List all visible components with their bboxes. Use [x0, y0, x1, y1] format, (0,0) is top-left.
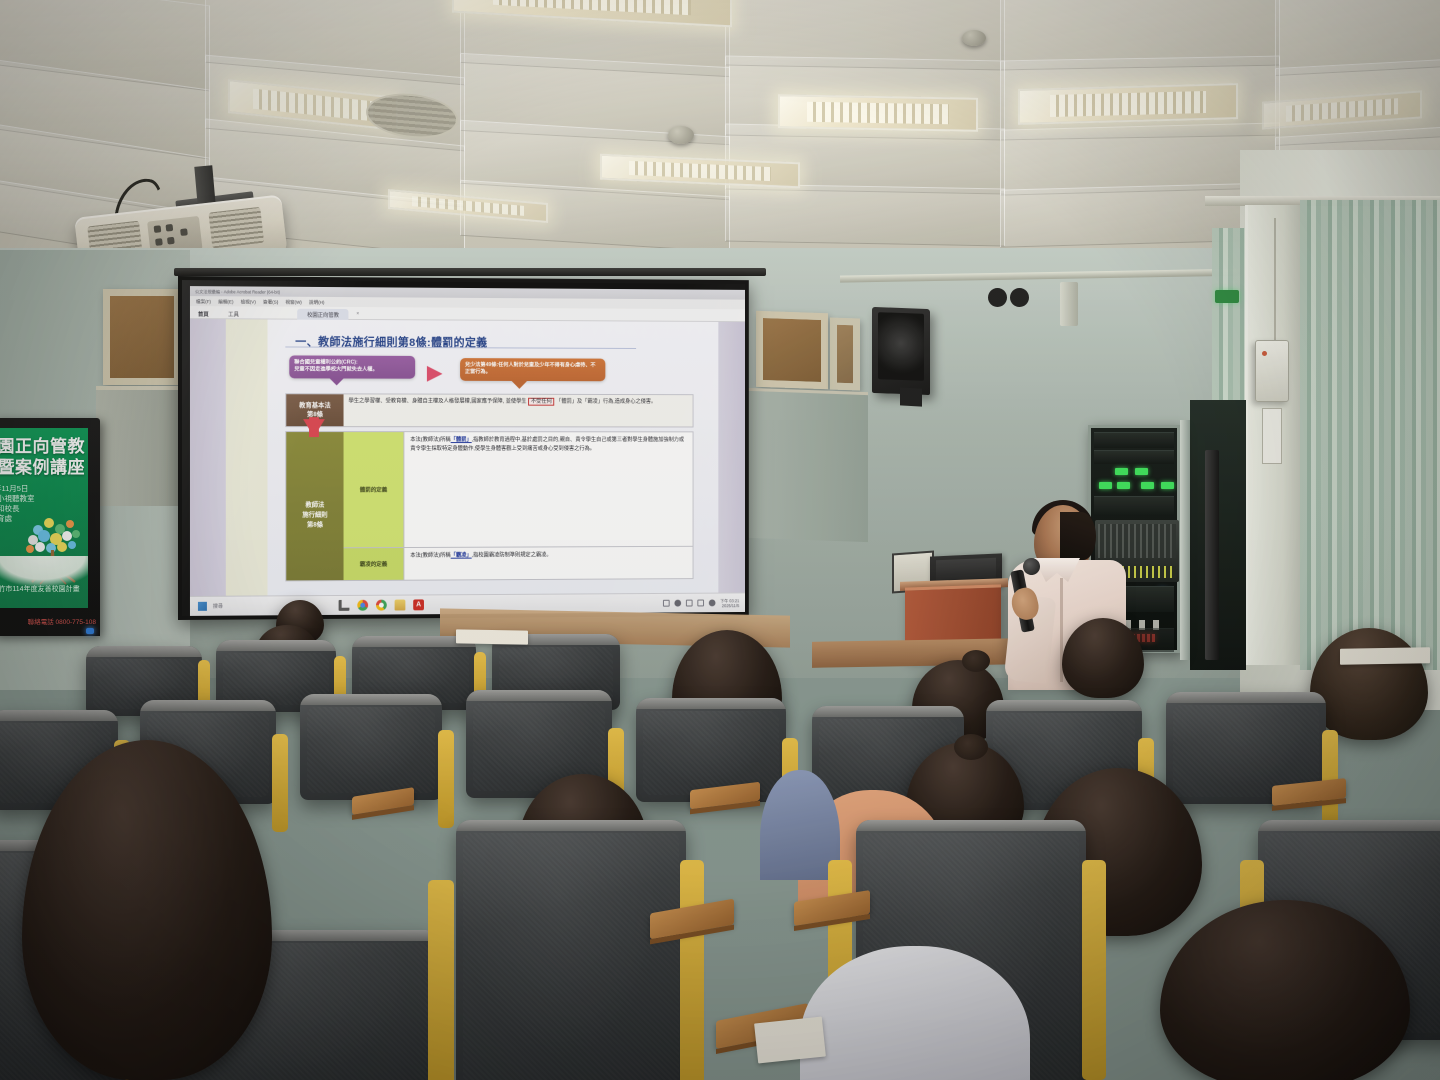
signage-venue: 山國小視聽教室 [0, 494, 88, 504]
pdf-right-rail[interactable] [718, 322, 745, 593]
text-part1: 學生之學習權、受教育權、身體自主權及人格發展權,國家應予保障, [348, 398, 504, 404]
wall-mounted-controller[interactable] [1255, 340, 1289, 402]
pdf-left-rail[interactable] [190, 319, 226, 596]
status-led [1135, 468, 1148, 475]
row-body-corporal-punishment: 本法(教師法)所稱「體罰」,指教師於教育過程中,基於處罰之目的,親自、責令學生自… [404, 432, 692, 547]
seat-frame [1082, 860, 1106, 1080]
exit-sign [1215, 290, 1239, 303]
basic-education-act-text: 學生之學習權、受教育權、身體自主權及人格發展權,國家應予保障, 並使學生 不受任… [344, 394, 693, 426]
row-prefix: 本法(教師法)所稱 [410, 437, 450, 443]
table-row: 體罰的定義 本法(教師法)所稱「體罰」,指教師於教育過程中,基於處罰之目的,親自… [344, 432, 693, 548]
acrobat-icon[interactable]: A [413, 599, 424, 610]
bulletin-board [103, 289, 181, 385]
lecture-seat[interactable] [456, 820, 686, 1080]
menu-sign[interactable]: 簽署(S) [263, 300, 278, 305]
ceiling-light [778, 94, 978, 131]
status-led [1161, 482, 1174, 489]
light-switch-plate[interactable] [1262, 408, 1282, 464]
desk-paper[interactable] [456, 629, 528, 644]
rack-door-edge[interactable] [1180, 420, 1190, 660]
windows-icon[interactable] [198, 602, 207, 611]
chrome-beta-icon[interactable] [376, 600, 387, 611]
seat-frame [680, 860, 704, 1080]
ime-icon[interactable] [697, 600, 704, 607]
seat-frame [272, 734, 288, 832]
lecture-seat[interactable] [636, 698, 786, 802]
wall-panel [96, 386, 182, 506]
window-curtain[interactable] [1300, 200, 1440, 670]
teacher-act-label: 教師法 施行細則 第8條 [286, 432, 343, 580]
pa-speaker [872, 307, 930, 395]
menu-help[interactable]: 說明(H) [309, 300, 324, 305]
seat-frame [438, 730, 454, 828]
pdf-page: 一、教師法施行細則第8條:體罰的定義 聯合國兒童權利公約(CRC): 兒童不因走… [268, 319, 719, 595]
signage-screen: 校園正向管教 規暨案例講座 114年11月5日 山國小視聽教室 林東和校長 市教… [0, 428, 88, 608]
status-led [1141, 482, 1154, 489]
signage-title-line1: 校園正向管教 [0, 436, 88, 457]
taskbar-search-input[interactable]: 搜尋 [213, 603, 223, 610]
power-led-icon [86, 628, 94, 634]
ceiling-smoke-detector [962, 30, 986, 46]
taskbar-app-icons[interactable]: A [339, 599, 424, 610]
slide-title: 一、教師法施行細則第8條:體罰的定義 [295, 334, 709, 352]
table-row: 霸凌的定義 本法(教師法)所稱「霸凌」,指校園霸凌防制準則規定之霸凌。 [344, 547, 693, 580]
tab-home[interactable]: 首頁 [198, 312, 209, 318]
system-tray[interactable]: 下午 03:21 2025/11/5 [663, 598, 739, 608]
close-icon[interactable]: × [356, 311, 359, 317]
bulletin-board [756, 311, 828, 390]
menu-window[interactable]: 視窗(W) [285, 300, 301, 305]
wall-speaker-pair [988, 288, 1032, 308]
projector-mount [194, 165, 215, 206]
pa-speaker-bracket [900, 387, 922, 406]
tab-tools[interactable]: 工具 [228, 312, 239, 318]
row-body-bullying: 本法(教師法)所稱「霸凌」,指校園霸凌防制準則規定之霸凌。 [404, 547, 692, 580]
projection-screen-housing [174, 268, 766, 276]
signage-bezel: 聯絡電話 0800-775-108 [0, 610, 100, 636]
taskbar-clock-time[interactable]: 下午 03:21 [720, 598, 739, 603]
wall-wire [1274, 218, 1276, 344]
child-welfare-act-callout: 兒少法第49條:任何人對於兒童及少年不得有身心虐待、不正當行為。 [460, 358, 605, 381]
label-line1: 教師法 [305, 500, 324, 510]
label-line2: 施行細則 [302, 510, 327, 520]
label-line1: 教育基本法 [299, 401, 331, 410]
folder-icon[interactable] [395, 600, 406, 611]
status-led [1115, 468, 1128, 475]
row-keyword: 「體罰」 [451, 437, 472, 443]
lecture-seat[interactable] [300, 694, 442, 800]
highlighted-phrase: 不受任何 [528, 398, 555, 406]
desk-paper[interactable] [1340, 647, 1430, 665]
signage-phone: 聯絡電話 0800-775-108 [28, 616, 96, 626]
row-text: ,指校園霸凌防制準則規定之霸凌。 [472, 552, 552, 558]
signage-speaker: 林東和校長 [0, 504, 88, 514]
slide-content: 一、教師法施行細則第8條:體罰的定義 聯合國兒童權利公約(CRC): 兒童不因走… [268, 319, 719, 595]
lecture-hall-scene: 校園正向管教 規暨案例講座 114年11月5日 山國小視聽教室 林東和校長 市教… [0, 0, 1440, 1080]
event-signage-display[interactable]: 校園正向管教 規暨案例講座 114年11月5日 山國小視聽教室 林東和校長 市教… [0, 418, 100, 636]
bulletin-board [830, 317, 860, 390]
presenter-hair-side [1060, 512, 1096, 560]
text-part3: 「體罰」及「霸凌」行為,造成身心之侵害。 [556, 399, 656, 405]
projection-screen: 公文法規彙編 - Adobe Acrobat Reader (64-bit) 檔… [178, 276, 749, 620]
door-edge[interactable] [1205, 450, 1219, 660]
signage-footer: 竹市114年度友善校園計畫 [0, 584, 88, 594]
menu-view[interactable]: 檢視(V) [241, 299, 256, 304]
menu-file[interactable]: 檔案(F) [196, 299, 211, 304]
volume-icon[interactable] [686, 600, 693, 607]
basic-education-act-row: 教育基本法 第8條 學生之學習權、受教育權、身體自主權及人格發展權,國家應予保障… [285, 393, 693, 427]
projected-desktop: 公文法規彙編 - Adobe Acrobat Reader (64-bit) 檔… [190, 286, 745, 616]
arrow-down-icon [303, 419, 325, 437]
hair-tie [954, 734, 988, 760]
ceiling-smoke-detector [668, 126, 694, 144]
menu-edit[interactable]: 編輯(E) [218, 299, 233, 304]
row-label-bullying: 霸凌的定義 [344, 548, 405, 580]
notification-icon[interactable] [709, 599, 716, 606]
text-part2: 並使學生 [506, 399, 527, 405]
status-led [1099, 482, 1112, 489]
taskbar-clock-date[interactable]: 2025/11/5 [720, 603, 739, 608]
ceiling-light [1018, 83, 1238, 125]
desk-paper[interactable] [754, 1017, 826, 1064]
pdf-thumbnail-pane[interactable] [226, 319, 268, 595]
teacher-act-table: 教師法 施行細則 第8條 體罰的定義 本法(教師法)所稱「體罰」,指教師於教育過… [285, 431, 693, 581]
network-icon[interactable] [674, 600, 681, 607]
seat-frame [428, 880, 454, 1080]
hair-tie [962, 650, 990, 672]
side-desk [812, 638, 1022, 668]
row-label-corporal-punishment: 體罰的定義 [344, 432, 405, 547]
row-prefix: 本法(教師法)所稱 [410, 553, 450, 559]
label-line3: 第8條 [307, 520, 323, 530]
status-led [1117, 482, 1130, 489]
signage-title-line2: 規暨案例講座 [0, 457, 88, 478]
file-explorer-icon[interactable] [339, 600, 350, 611]
wall-conduit-box [1060, 282, 1078, 326]
crc-callout: 聯合國兒童權利公約(CRC): 兒童不因走進學校大門就失去人權。 [289, 355, 415, 378]
signage-date: 114年11月5日 [0, 484, 88, 494]
wall-panel [748, 388, 868, 542]
chrome-icon[interactable] [357, 600, 368, 611]
arrow-right-icon [427, 366, 443, 382]
chevron-up-icon[interactable] [663, 600, 670, 607]
row-keyword: 「霸凌」 [451, 553, 472, 559]
